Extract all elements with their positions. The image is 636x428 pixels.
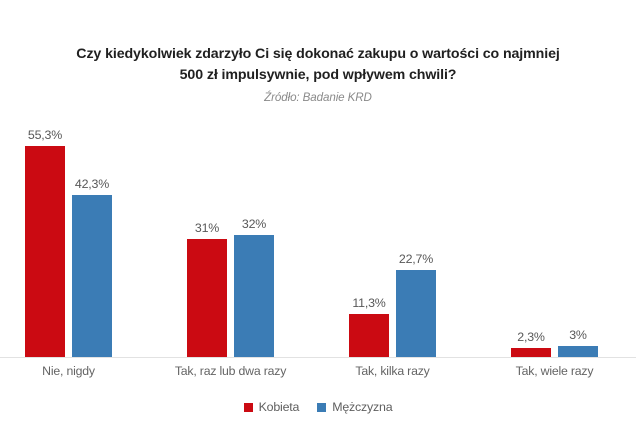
bar-group: 55,3%42,3%: [25, 111, 112, 357]
chart-title: Czy kiedykolwiek zdarzyło Ci się dokonać…: [68, 44, 568, 86]
bar-rect: [72, 195, 112, 357]
bar-rect: [25, 146, 65, 357]
category-label: Tak, wiele razy: [466, 364, 636, 378]
bar-rect: [349, 314, 389, 357]
x-axis-line: [0, 357, 636, 358]
chart-legend: KobietaMężczyzna: [0, 400, 636, 414]
bar-rect: [558, 346, 598, 357]
legend-swatch-icon: [317, 403, 326, 412]
legend-swatch-icon: [244, 403, 253, 412]
category-label: Tak, raz lub dwa razy: [142, 364, 319, 378]
bar-value-label: 11,3%: [338, 296, 400, 310]
category-label: Tak, kilka razy: [304, 364, 481, 378]
bar-value-label: 3%: [547, 328, 609, 342]
bar-rect: [511, 348, 551, 357]
chart-subtitle: Źródło: Badanie KRD: [0, 91, 636, 104]
plot-area: 55,3%42,3%31%32%11,3%22,7%2,3%3%: [0, 110, 636, 358]
legend-item-kobieta[interactable]: Kobieta: [244, 400, 300, 414]
bar-group: 2,3%3%: [511, 111, 598, 357]
bar-value-label: 42,3%: [61, 177, 123, 191]
bar-value-label: 55,3%: [14, 128, 76, 142]
category-axis-labels: Nie, nigdyTak, raz lub dwa razyTak, kilk…: [0, 364, 636, 384]
bar-group: 31%32%: [187, 111, 274, 357]
legend-label: Mężczyzna: [332, 400, 392, 414]
bar-value-label: 32%: [223, 217, 285, 231]
legend-item-mezczyzna[interactable]: Mężczyzna: [317, 400, 392, 414]
bar-rect: [396, 270, 436, 357]
bar-rect: [187, 239, 227, 357]
category-label: Nie, nigdy: [0, 364, 157, 378]
bar-chart: Czy kiedykolwiek zdarzyło Ci się dokonać…: [0, 0, 636, 428]
bar-value-label: 22,7%: [385, 252, 447, 266]
bar-group: 11,3%22,7%: [349, 111, 436, 357]
legend-label: Kobieta: [259, 400, 300, 414]
bar-rect: [234, 235, 274, 357]
chart-header: Czy kiedykolwiek zdarzyło Ci się dokonać…: [0, 44, 636, 104]
